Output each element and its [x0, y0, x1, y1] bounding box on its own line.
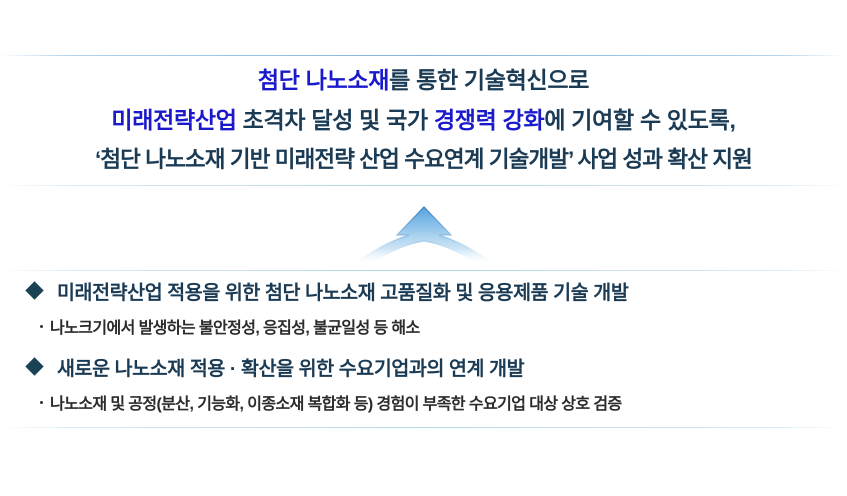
- headline-line-2-accent-2: 경쟁력 강화: [434, 107, 544, 133]
- slide-canvas: 첨단 나노소재를 통한 기술혁신으로 미래전략산업 초격차 달성 및 국가 경쟁…: [0, 0, 847, 496]
- headline-line-2-navy-2: 에 기여할 수 있도록,: [544, 107, 735, 133]
- bullet-heading-1: 미래전략산업 적용을 위한 첨단 나노소재 고품질화 및 응용제품 기술 개발: [57, 276, 628, 305]
- bullet-heading-row-2: 새로운 나노소재 적용 · 확산을 위한 수요기업과의 연계 개발: [0, 352, 847, 381]
- divider-arrow: [0, 270, 847, 271]
- headline-line-2-navy-1: 초격차 달성 및 국가: [237, 107, 434, 133]
- bullet-sub-row-1: 나노크기에서 발생하는 불안정성, 응집성, 불균일성 등 해소: [0, 314, 847, 338]
- upward-arrow-graphic: [0, 205, 847, 267]
- bullet-sub-row-2: 나노소재 및 공정(분산, 기능화, 이종소재 복합화 등) 경험이 부족한 수…: [0, 390, 847, 414]
- bullet-sub-text-1: 나노크기에서 발생하는 불안정성, 응집성, 불균일성 등 해소: [50, 314, 420, 338]
- dot-bullet-icon: [40, 401, 43, 404]
- divider-top: [0, 55, 847, 56]
- bullet-heading-row-1: 미래전략산업 적용을 위한 첨단 나노소재 고품질화 및 응용제품 기술 개발: [0, 276, 847, 305]
- headline-line-3: ‘첨단 나노소재 기반 미래전략 산업 수요연계 기술개발’ 사업 성과 확산 …: [0, 140, 847, 180]
- bullet-sub-text-2: 나노소재 및 공정(분산, 기능화, 이종소재 복합화 등) 경험이 부족한 수…: [50, 390, 622, 414]
- bullet-heading-2: 새로운 나노소재 적용 · 확산을 위한 수요기업과의 연계 개발: [57, 352, 524, 381]
- dot-bullet-icon: [40, 325, 43, 328]
- upward-arrow-icon: [329, 205, 519, 267]
- headline-line-3-navy: ‘첨단 나노소재 기반 미래전략 산업 수요연계 기술개발’ 사업 성과 확산 …: [95, 147, 752, 172]
- diamond-bullet-icon: [25, 357, 43, 375]
- bullet-group-2: 새로운 나노소재 적용 · 확산을 위한 수요기업과의 연계 개발 나노소재 및…: [0, 352, 847, 414]
- divider-headline: [0, 185, 847, 186]
- bullet-group-1: 미래전략산업 적용을 위한 첨단 나노소재 고품질화 및 응용제품 기술 개발 …: [0, 276, 847, 338]
- headline-line-2-accent-1: 미래전략산업: [111, 107, 236, 133]
- headline-line-1-navy: 를 통한 기술혁신으로: [389, 67, 589, 93]
- headline-block: 첨단 나노소재를 통한 기술혁신으로 미래전략산업 초격차 달성 및 국가 경쟁…: [0, 60, 847, 180]
- headline-line-2: 미래전략산업 초격차 달성 및 국가 경쟁력 강화에 기여할 수 있도록,: [0, 100, 847, 140]
- diamond-bullet-icon: [25, 281, 43, 299]
- bullet-list: 미래전략산업 적용을 위한 첨단 나노소재 고품질화 및 응용제품 기술 개발 …: [0, 276, 847, 428]
- headline-line-1: 첨단 나노소재를 통한 기술혁신으로: [0, 60, 847, 100]
- headline-line-1-accent: 첨단 나노소재: [258, 67, 389, 93]
